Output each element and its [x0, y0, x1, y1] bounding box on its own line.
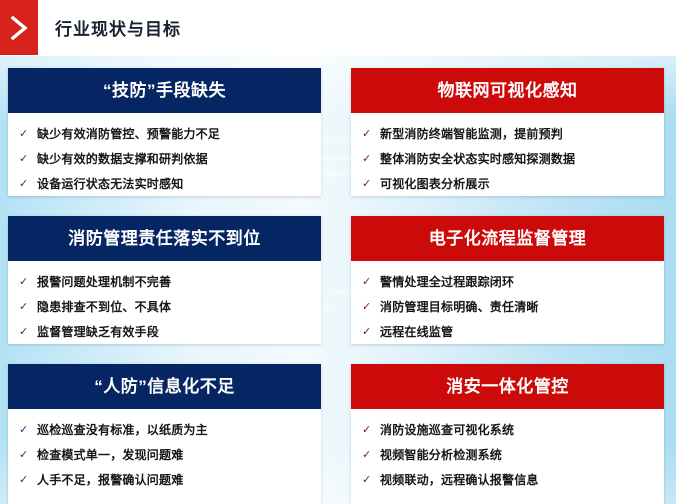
list-item-label: 报警问题处理机制不完善	[37, 270, 313, 295]
check-icon: ✓	[19, 443, 37, 468]
card-title: “技防”手段缺失	[8, 68, 321, 113]
check-icon: ✓	[19, 147, 37, 172]
list-item: ✓ 消防设施巡查可视化系统	[351, 418, 664, 443]
card-title: 电子化流程监督管理	[351, 216, 664, 261]
card-problem-human-defense-informatization[interactable]: “人防”信息化不足 ✓ 巡检巡查没有标准，以纸质为主 ✓ 检查模式单一，发现问题…	[8, 364, 321, 504]
list-item: ✓ 缺少有效消防管控、预警能力不足	[8, 122, 321, 147]
list-item: ✓ 消防管理目标明确、责任清晰	[351, 295, 664, 320]
list-item: ✓ 视频联动，远程确认报警信息	[351, 468, 664, 493]
list-item: ✓ 人手不足，报警确认问题难	[8, 468, 321, 493]
list-item-label: 整体消防安全状态实时感知探测数据	[380, 147, 656, 172]
check-icon: ✓	[19, 418, 37, 443]
card-body: ✓ 警情处理全过程跟踪闭环 ✓ 消防管理目标明确、责任清晰 ✓ 远程在线监管	[351, 261, 664, 344]
check-icon: ✓	[362, 172, 380, 196]
list-item: ✓ 远程在线监管	[351, 320, 664, 344]
card-solution-iot-visual-sensing[interactable]: 物联网可视化感知 ✓ 新型消防终端智能监测，提前预判 ✓ 整体消防安全状态实时感…	[351, 68, 664, 196]
card-body: ✓ 缺少有效消防管控、预警能力不足 ✓ 缺少有效的数据支撑和研判依据 ✓ 设备运…	[8, 113, 321, 196]
list-item-label: 缺少有效的数据支撑和研判依据	[37, 147, 313, 172]
list-item-label: 新型消防终端智能监测，提前预判	[380, 122, 656, 147]
check-icon: ✓	[362, 443, 380, 468]
list-item-label: 消防设施巡查可视化系统	[380, 418, 656, 443]
list-item-label: 消防管理目标明确、责任清晰	[380, 295, 656, 320]
check-icon: ✓	[19, 320, 37, 344]
check-icon: ✓	[362, 418, 380, 443]
list-item-label: 巡检巡查没有标准，以纸质为主	[37, 418, 313, 443]
check-icon: ✓	[362, 147, 380, 172]
list-item-label: 可视化图表分析展示	[380, 172, 656, 196]
slide-canvas: 行业现状与目标 “技防”手段缺失 ✓ 缺少有效消防管控、预警能力不足 ✓ 缺少有…	[0, 0, 676, 504]
check-icon: ✓	[19, 468, 37, 493]
list-item: ✓ 可视化图表分析展示	[351, 172, 664, 196]
check-icon: ✓	[362, 270, 380, 295]
list-item-label: 检查模式单一，发现问题难	[37, 443, 313, 468]
list-item: ✓ 报警问题处理机制不完善	[8, 270, 321, 295]
card-problem-tech-prevention[interactable]: “技防”手段缺失 ✓ 缺少有效消防管控、预警能力不足 ✓ 缺少有效的数据支撑和研…	[8, 68, 321, 196]
card-body: ✓ 巡检巡查没有标准，以纸质为主 ✓ 检查模式单一，发现问题难 ✓ 人手不足，报…	[8, 409, 321, 493]
list-item-label: 隐患排查不到位、不具体	[37, 295, 313, 320]
list-item: ✓ 警情处理全过程跟踪闭环	[351, 270, 664, 295]
card-title: 物联网可视化感知	[351, 68, 664, 113]
card-solution-integrated-fire-security-control[interactable]: 消安一体化管控 ✓ 消防设施巡查可视化系统 ✓ 视频智能分析检测系统 ✓ 视频联…	[351, 364, 664, 504]
list-item: ✓ 设备运行状态无法实时感知	[8, 172, 321, 196]
list-item: ✓ 缺少有效的数据支撑和研判依据	[8, 147, 321, 172]
card-grid: “技防”手段缺失 ✓ 缺少有效消防管控、预警能力不足 ✓ 缺少有效的数据支撑和研…	[0, 56, 676, 504]
check-icon: ✓	[19, 122, 37, 147]
list-item-label: 远程在线监管	[380, 320, 656, 344]
list-item-label: 视频智能分析检测系统	[380, 443, 656, 468]
check-icon: ✓	[362, 320, 380, 344]
list-item: ✓ 视频智能分析检测系统	[351, 443, 664, 468]
list-item-label: 警情处理全过程跟踪闭环	[380, 270, 656, 295]
card-title: “人防”信息化不足	[8, 364, 321, 409]
check-icon: ✓	[19, 270, 37, 295]
list-item: ✓ 检查模式单一，发现问题难	[8, 443, 321, 468]
check-icon: ✓	[19, 172, 37, 196]
check-icon: ✓	[362, 468, 380, 493]
list-item-label: 缺少有效消防管控、预警能力不足	[37, 122, 313, 147]
list-item: ✓ 巡检巡查没有标准，以纸质为主	[8, 418, 321, 443]
list-item: ✓ 整体消防安全状态实时感知探测数据	[351, 147, 664, 172]
check-icon: ✓	[19, 295, 37, 320]
check-icon: ✓	[362, 122, 380, 147]
page-header: 行业现状与目标	[0, 0, 676, 56]
header-badge	[0, 0, 38, 55]
card-title: 消防管理责任落实不到位	[8, 216, 321, 261]
list-item: ✓ 新型消防终端智能监测，提前预判	[351, 122, 664, 147]
card-problem-management-responsibility[interactable]: 消防管理责任落实不到位 ✓ 报警问题处理机制不完善 ✓ 隐患排查不到位、不具体 …	[8, 216, 321, 344]
check-icon: ✓	[362, 295, 380, 320]
card-body: ✓ 新型消防终端智能监测，提前预判 ✓ 整体消防安全状态实时感知探测数据 ✓ 可…	[351, 113, 664, 196]
list-item-label: 设备运行状态无法实时感知	[37, 172, 313, 196]
list-item-label: 人手不足，报警确认问题难	[37, 468, 313, 493]
page-title: 行业现状与目标	[55, 15, 181, 40]
list-item-label: 视频联动，远程确认报警信息	[380, 468, 656, 493]
card-solution-electronic-process-supervision[interactable]: 电子化流程监督管理 ✓ 警情处理全过程跟踪闭环 ✓ 消防管理目标明确、责任清晰 …	[351, 216, 664, 344]
list-item: ✓ 隐患排查不到位、不具体	[8, 295, 321, 320]
card-body: ✓ 消防设施巡查可视化系统 ✓ 视频智能分析检测系统 ✓ 视频联动，远程确认报警…	[351, 409, 664, 493]
card-body: ✓ 报警问题处理机制不完善 ✓ 隐患排查不到位、不具体 ✓ 监督管理缺乏有效手段	[8, 261, 321, 344]
list-item: ✓ 监督管理缺乏有效手段	[8, 320, 321, 344]
list-item-label: 监督管理缺乏有效手段	[37, 320, 313, 344]
card-title: 消安一体化管控	[351, 364, 664, 409]
